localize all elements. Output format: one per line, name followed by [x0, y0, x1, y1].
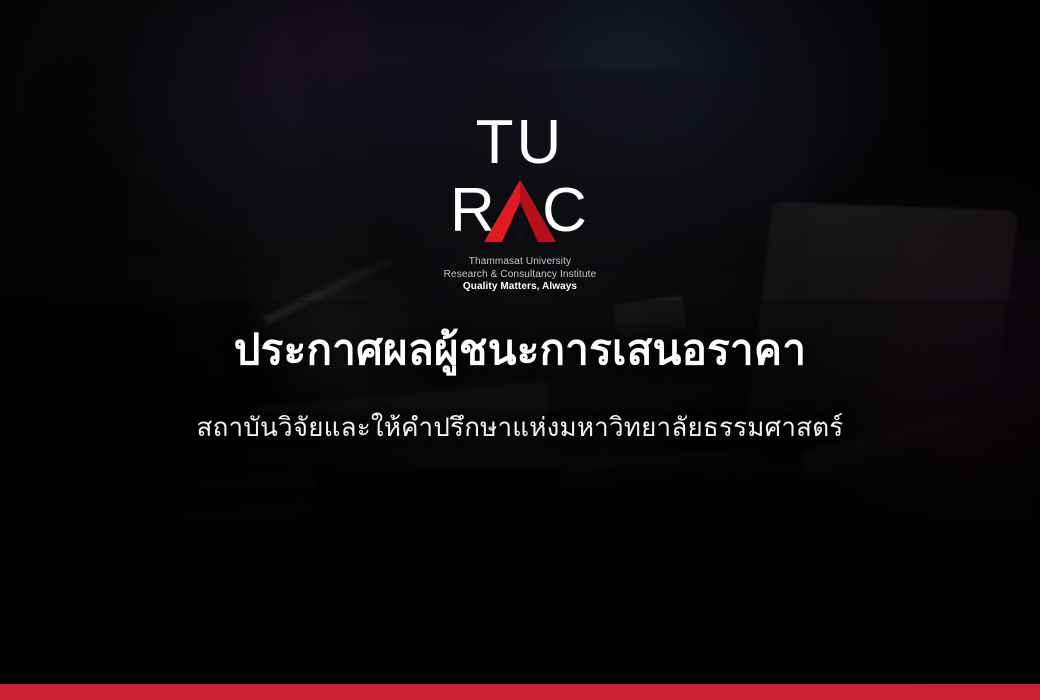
tagline-line-1: Thammasat University: [0, 256, 1040, 269]
bottom-accent-bar: [0, 684, 1040, 700]
banner-content: TU RAC Thammasat University Research & C…: [0, 0, 1040, 700]
turac-logo: TU RAC Thammasat University Research & C…: [0, 112, 1040, 294]
tagline-line-2: Research & Consultancy Institute: [0, 269, 1040, 282]
logo-tagline: Thammasat University Research & Consulta…: [0, 256, 1040, 294]
announcement-banner: TU RAC Thammasat University Research & C…: [0, 0, 1040, 700]
logo-rac-row: RAC: [0, 178, 1040, 244]
logo-text-tu: TU: [0, 112, 1040, 174]
logo-letter-a-mountain-icon: [484, 180, 556, 242]
headline-text: ประกาศผลผู้ชนะการเสนอราคา: [0, 322, 1040, 378]
tagline-line-3: Quality Matters, Always: [0, 281, 1040, 294]
subheadline-text: สถาบันวิจัยและให้คำปรึกษาแห่งมหาวิทยาลัย…: [0, 408, 1040, 446]
